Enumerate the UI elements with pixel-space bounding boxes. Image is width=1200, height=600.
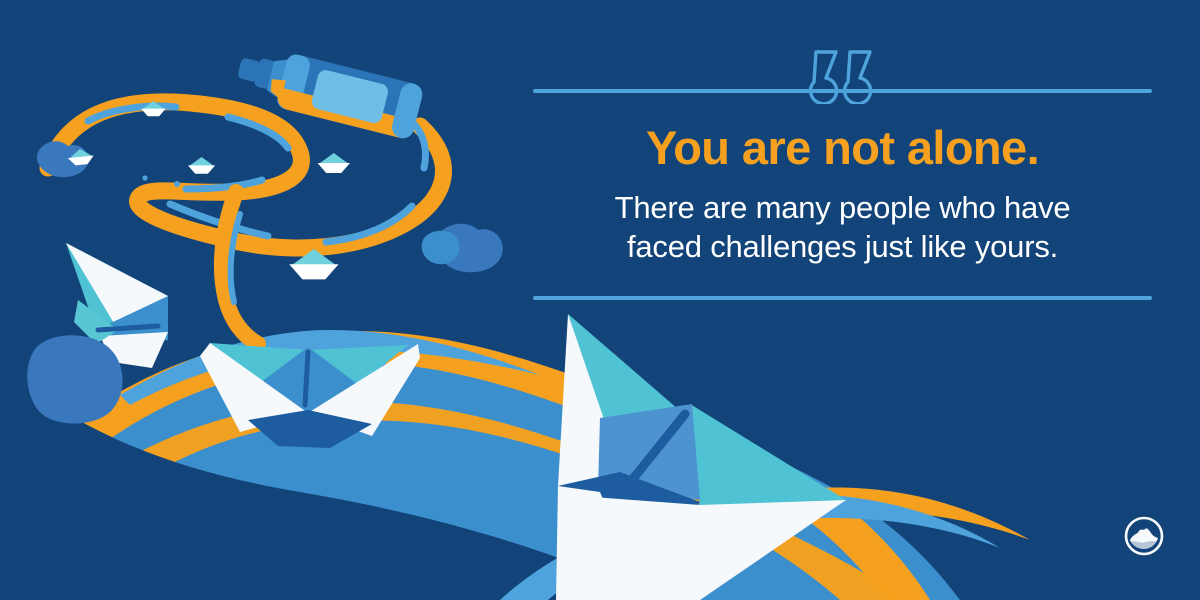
brand-logo-icon[interactable] (1123, 515, 1165, 557)
rock-shape (27, 335, 122, 423)
stream-dot (174, 181, 180, 187)
quote-panel: You are not alone. There are many people… (533, 0, 1153, 600)
stream-dot (142, 175, 147, 180)
quotation-mark-icon (798, 48, 888, 104)
subtitle-line-2: faced challenges just like yours. (533, 227, 1152, 266)
subtitle-line-1: There are many people who have (533, 188, 1152, 227)
page-title: You are not alone. (533, 123, 1152, 172)
boat-mast-line (305, 352, 308, 405)
bottom-divider (533, 296, 1152, 300)
subtitle: There are many people who have faced cha… (533, 188, 1152, 266)
poster-canvas: You are not alone. There are many people… (0, 0, 1200, 600)
